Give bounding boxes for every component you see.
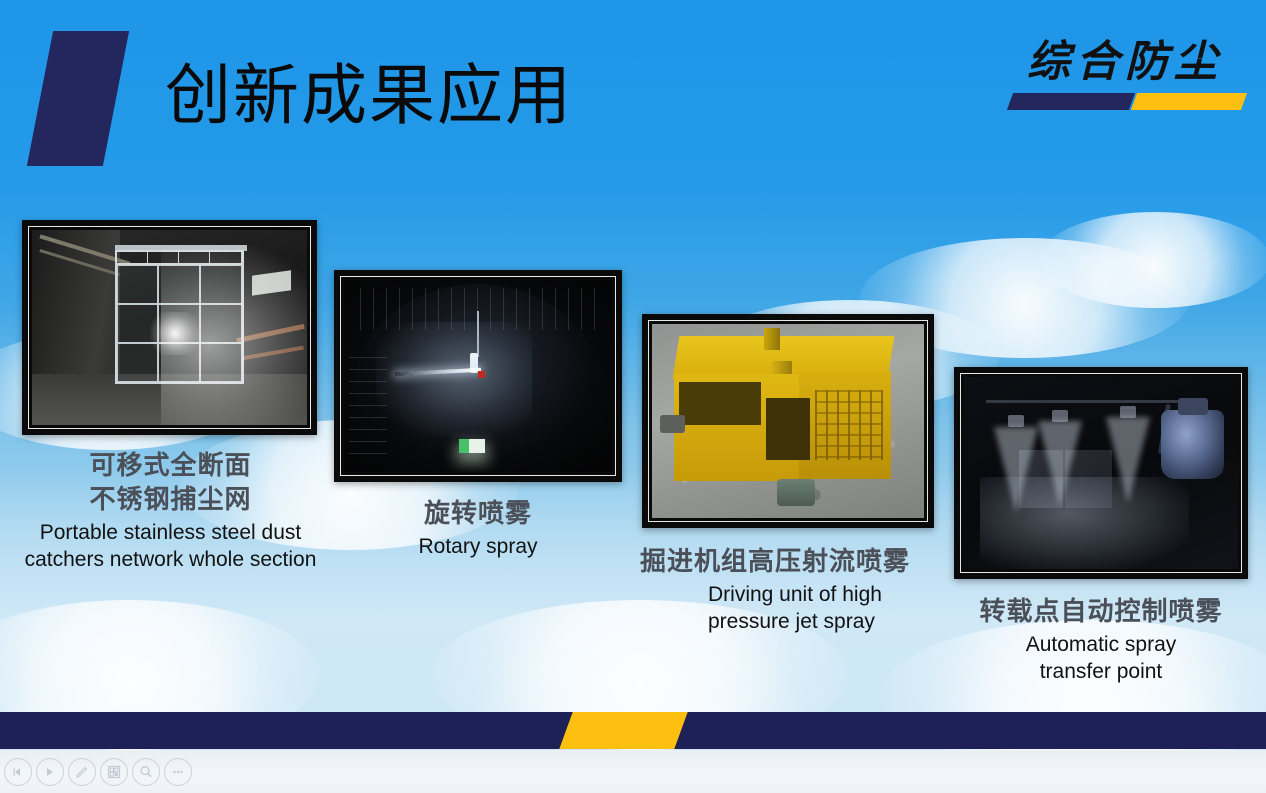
logo-bars [1010, 93, 1240, 111]
photo-image-auto-spray [964, 377, 1238, 569]
photo-card-jet-spray-unit[interactable] [642, 314, 934, 528]
photo-inner-border [340, 276, 616, 476]
caption-auto-spray: 转载点自动控制喷雾 Automatic spray transfer point [948, 596, 1254, 685]
photo-card-auto-spray[interactable] [954, 367, 1248, 579]
logo-text: 综合防尘 [1010, 40, 1240, 85]
more-options-button[interactable] [164, 758, 192, 786]
slide-grid-button[interactable] [100, 758, 128, 786]
caption-en-line2: pressure jet spray [708, 609, 960, 635]
previous-icon [11, 765, 25, 779]
caption-en-line1: Portable stainless steel dust [18, 520, 323, 546]
caption-cn-line1: 转载点自动控制喷雾 [948, 596, 1254, 630]
caption-dust-catcher: 可移式全断面 不锈钢捕尘网 Portable stainless steel d… [18, 450, 323, 573]
title-accent-parallelogram [27, 31, 129, 166]
magnifier-icon [138, 764, 154, 780]
presentation-slide: 创新成果应用 综合防尘 可移式全断面 不锈钢捕尘网 Portab [0, 0, 1266, 750]
caption-cn-line1: 可移式全断面 [18, 450, 323, 484]
caption-en-line1: Rotary spray [334, 534, 622, 560]
logo: 综合防尘 [1010, 40, 1240, 111]
next-slide-button[interactable] [36, 758, 64, 786]
caption-cn-line2: 不锈钢捕尘网 [18, 484, 323, 518]
photo-image-jet-spray-unit [652, 324, 924, 518]
photo-card-rotary-spray[interactable] [334, 270, 622, 482]
caption-rotary-spray: 旋转喷雾 Rotary spray [334, 498, 622, 559]
page-title: 创新成果应用 [165, 63, 573, 129]
logo-bar-navy [1007, 93, 1135, 110]
photo-inner-border [648, 320, 928, 522]
caption-cn-line1: 掘进机组高压射流喷雾 [640, 546, 960, 580]
photo-card-dust-catcher[interactable] [22, 220, 317, 435]
cloud-decoration [1040, 212, 1266, 308]
caption-en-line2: transfer point [948, 659, 1254, 685]
caption-en-line1: Driving unit of high [708, 582, 960, 608]
pen-icon [74, 764, 90, 780]
photo-image-rotary-spray [344, 280, 612, 472]
caption-en-line2: catchers network whole section [18, 547, 323, 573]
caption-cn-line1: 旋转喷雾 [334, 498, 622, 532]
logo-bar-yellow [1131, 93, 1247, 110]
slideshow-toolbar [0, 750, 1266, 793]
previous-slide-button[interactable] [4, 758, 32, 786]
caption-jet-spray-unit: 掘进机组高压射流喷雾 Driving unit of high pressure… [640, 546, 960, 635]
next-icon [43, 765, 57, 779]
pen-annotate-button[interactable] [68, 758, 96, 786]
photo-inner-border [28, 226, 311, 429]
grid-icon [106, 764, 122, 780]
footer-bar-yellow [559, 712, 687, 749]
zoom-button[interactable] [132, 758, 160, 786]
photo-inner-border [960, 373, 1242, 573]
ellipsis-icon [170, 764, 186, 780]
photo-image-dust-catcher [32, 230, 307, 425]
caption-en-line1: Automatic spray [948, 632, 1254, 658]
